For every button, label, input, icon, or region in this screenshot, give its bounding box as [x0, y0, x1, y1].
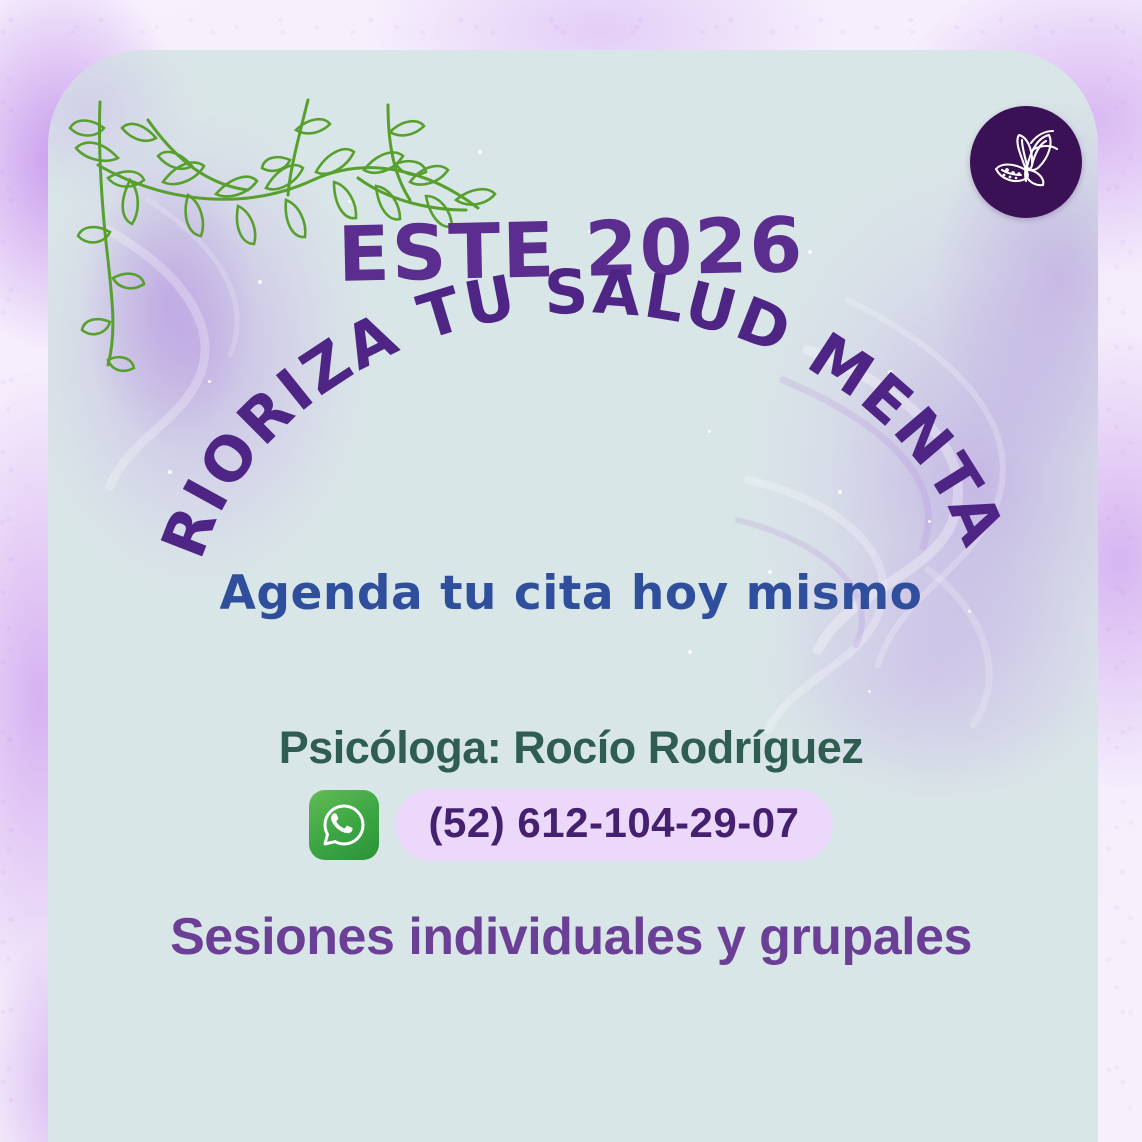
services-text: Sesiones individuales y grupales — [0, 907, 1142, 967]
whatsapp-icon[interactable] — [309, 790, 379, 860]
professional-name: Psicóloga: Rocío Rodríguez — [0, 722, 1142, 774]
butterfly-logo-icon — [987, 123, 1065, 201]
phone-number[interactable]: (52) 612-104-29-07 — [395, 789, 834, 861]
contact-row: (52) 612-104-29-07 — [0, 789, 1142, 861]
whatsapp-glyph-icon — [319, 800, 369, 850]
cta-text: Agenda tu cita hoy mismo — [0, 566, 1142, 621]
arc-subtitle: PRIORIZA TU SALUD MENTAL — [0, 250, 1142, 570]
poster-canvas: ESTE 2026 PRIORIZA TU SALUD MENTAL Agend… — [0, 0, 1142, 1142]
arc-subtitle-text: PRIORIZA TU SALUD MENTAL — [0, 250, 1019, 567]
